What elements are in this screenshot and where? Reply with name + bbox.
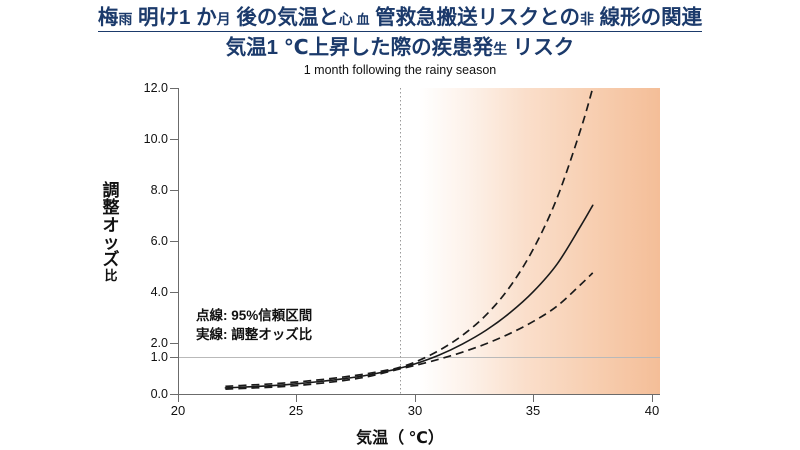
title-seg: 管救急搬送リスクとの [369,6,580,29]
y-tick-label: 2.0 [122,336,168,350]
title-seg: 線形の関連 [594,6,702,29]
legend-item-solid: 実線: 調整オッズ比 [196,325,312,344]
title-seg: 非 [580,11,594,27]
slide-canvas: 梅雨 明け1 か月 後の気温と心 血 管救急搬送リスクとの非 線形の関連 気温1… [0,0,800,450]
x-tick-mark [178,394,179,402]
legend-item-dashed: 点線: 95%信頼区間 [196,306,312,325]
title-seg: 後の気温と [231,6,339,29]
reference-line-or-1 [178,357,660,358]
x-tick-mark [533,394,534,402]
x-tick-mark [415,394,416,402]
y-tick-label: 0.0 [122,387,168,401]
title-seg: 心 [339,11,353,27]
y-tick-mark [170,190,179,191]
y-axis-title: 調整オッズ 比 [96,182,126,282]
title-seg: か [196,6,217,29]
chart-legend: 点線: 95%信頼区間 実線: 調整オッズ比 [196,306,312,344]
y-tick-label: 8.0 [122,183,168,197]
y-axis-title-small: 比 [96,269,126,282]
y-tick-mark [170,241,179,242]
y-tick-mark [170,139,179,140]
y-tick-label: 12.0 [122,81,168,95]
title-line-1: 梅雨 明け1 か月 後の気温と心 血 管救急搬送リスクとの非 線形の関連 [98,6,702,32]
title-seg: リスク [507,36,574,59]
title-seg: 気温1 ℃上昇した際の疾患発 [226,36,493,59]
x-tick-label: 30 [395,403,435,418]
y-tick-mark [170,343,179,344]
x-tick-label: 40 [632,403,672,418]
x-tick-label: 35 [513,403,553,418]
x-axis-title: 気温（ ℃） [0,424,800,448]
y-tick-label: 4.0 [122,285,168,299]
y-axis-title-main: 調整オッズ [103,181,120,269]
title-seg: 血 [353,12,370,27]
title-seg: 月 [217,11,231,27]
title-seg: 生 [493,41,507,57]
y-tick-label: 6.0 [122,234,168,248]
x-tick-mark [652,394,653,402]
y-tick-mark [170,88,179,89]
x-axis-line [178,394,660,395]
heat-gradient-background [178,88,660,395]
y-tick-mark [170,357,179,358]
x-tick-label: 25 [276,403,316,418]
y-tick-mark [170,292,179,293]
y-tick-label: 10.0 [122,132,168,146]
x-tick-mark [296,394,297,402]
reference-line-threshold-temp [400,88,401,395]
y-tick-label: 1.0 [122,350,168,364]
plot-panel [178,88,660,395]
x-tick-label: 20 [158,403,198,418]
